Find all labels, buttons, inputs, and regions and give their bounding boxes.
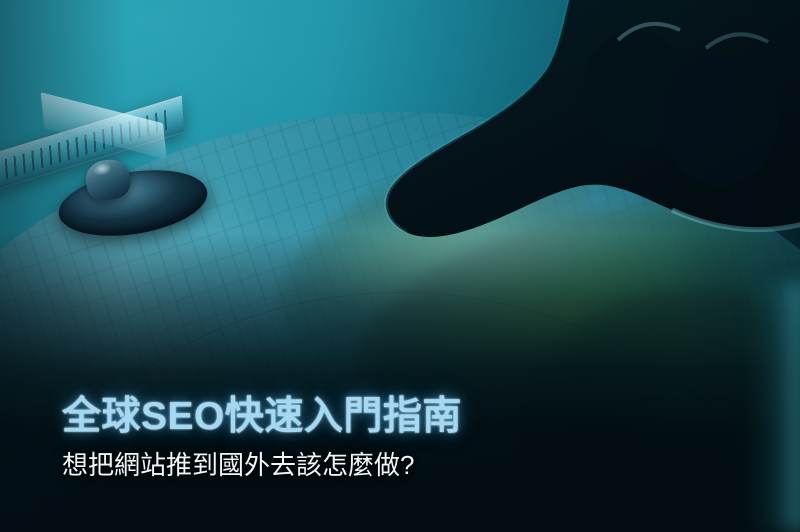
bottom-gradient-overlay: [0, 232, 800, 532]
hero-banner: 全球SEO快速入門指南 想把網站推到國外去該怎麼做?: [0, 0, 800, 532]
caption-block: 全球SEO快速入門指南 想把網站推到國外去該怎麼做?: [62, 395, 702, 480]
banner-headline: 全球SEO快速入門指南: [62, 395, 702, 439]
banner-subheadline: 想把網站推到國外去該怎麼做?: [62, 450, 702, 480]
